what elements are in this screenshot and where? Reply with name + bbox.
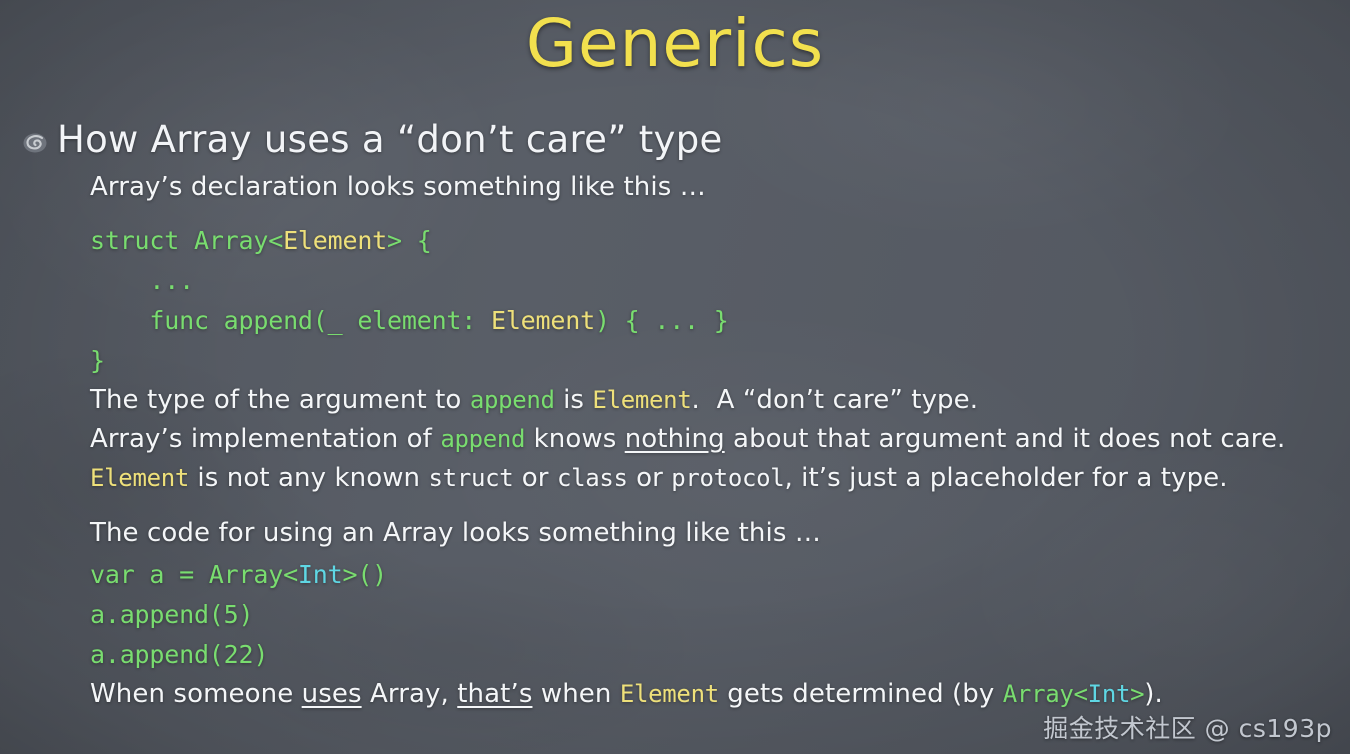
code-block-array-declaration: struct Array<Element> { ... func append(… xyxy=(90,221,1320,381)
text-segment: class xyxy=(557,464,628,492)
paragraph-element-determined: When someone uses Array, that’s when Ele… xyxy=(90,675,1320,714)
text-segment: when xyxy=(532,679,619,709)
text-segment: protocol xyxy=(671,464,784,492)
text-segment: ). xyxy=(1144,679,1163,709)
text-segment: Element xyxy=(620,680,719,708)
text-segment: Array, xyxy=(362,679,458,709)
text-segment: . A “don’t care” type. xyxy=(691,385,978,415)
prose-line: The type of the argument to append is El… xyxy=(90,381,1320,420)
text-segment: > { xyxy=(387,226,432,255)
text-segment: > xyxy=(1130,680,1144,708)
text-segment: struct xyxy=(429,464,514,492)
text-segment: func append(_ element: xyxy=(90,306,491,335)
text-segment: Array< xyxy=(194,226,283,255)
text-segment: , it’s just a placeholder for a type. xyxy=(784,463,1227,493)
text-segment: When someone xyxy=(90,679,302,709)
text-segment: Int xyxy=(298,560,343,589)
text-segment: or xyxy=(513,463,557,493)
text-segment: Array’s implementation of xyxy=(90,424,440,454)
text-segment: uses xyxy=(302,679,362,709)
slide-body: Array’s declaration looks something like… xyxy=(90,168,1320,714)
intro-line: Array’s declaration looks something like… xyxy=(90,168,1320,207)
code-line: ... xyxy=(90,261,1320,301)
text-segment: is xyxy=(555,385,593,415)
code-line: a.append(22) xyxy=(90,635,1320,675)
text-segment: Element xyxy=(283,226,387,255)
text-segment: is not any known xyxy=(189,463,428,493)
text-segment: The type of the argument to xyxy=(90,385,470,415)
slide-title: Generics xyxy=(0,2,1350,86)
text-segment: or xyxy=(628,463,672,493)
text-segment: >() xyxy=(342,560,387,589)
code-line: var a = Array<Int>() xyxy=(90,555,1320,595)
text-segment: append xyxy=(440,425,525,453)
prose-line: Element is not any known struct or class… xyxy=(90,459,1320,498)
text-segment: } xyxy=(90,346,105,375)
paragraph-append-explanation: The type of the argument to append is El… xyxy=(90,381,1320,498)
code-line: struct Array<Element> { xyxy=(90,221,1320,261)
bullet-heading-row: How Array uses a “don’t care” type xyxy=(22,117,723,163)
text-segment: Element xyxy=(491,306,595,335)
text-segment: ... xyxy=(90,266,194,295)
text-segment: Element xyxy=(90,464,189,492)
text-segment: Array< xyxy=(1003,680,1088,708)
text-segment: append xyxy=(470,386,555,414)
spiral-bullet-icon xyxy=(22,130,48,156)
prose-line: When someone uses Array, that’s when Ele… xyxy=(90,675,1320,714)
code-line: a.append(5) xyxy=(90,595,1320,635)
text-segment: ) { ... } xyxy=(595,306,729,335)
text-segment: that’s xyxy=(457,679,532,709)
text-segment: Int xyxy=(1088,680,1130,708)
text-segment: gets determined (by xyxy=(719,679,1003,709)
bullet-heading-text: How Array uses a “don’t care” type xyxy=(57,117,723,163)
text-segment: struct xyxy=(90,226,194,255)
presentation-slide: Generics How Array uses a “don’t care” t… xyxy=(0,0,1350,754)
watermark: 掘金技术社区 @ cs193p xyxy=(1043,712,1332,746)
text-segment: a.append(5) xyxy=(90,600,253,629)
prose-line: Array’s implementation of append knows n… xyxy=(90,420,1320,459)
text-segment: nothing xyxy=(625,424,725,454)
code-block-array-usage: var a = Array<Int>()a.append(5)a.append(… xyxy=(90,555,1320,675)
text-segment: Element xyxy=(592,386,691,414)
text-segment: knows xyxy=(525,424,624,454)
code-line: func append(_ element: Element) { ... } xyxy=(90,301,1320,341)
text-segment: a.append(22) xyxy=(90,640,268,669)
text-segment: about that argument and it does not care… xyxy=(725,424,1286,454)
slide-content: Generics How Array uses a “don’t care” t… xyxy=(0,0,1350,754)
code-line: } xyxy=(90,341,1320,381)
usage-intro-line: The code for using an Array looks someth… xyxy=(90,514,1320,553)
text-segment: var a = Array< xyxy=(90,560,298,589)
